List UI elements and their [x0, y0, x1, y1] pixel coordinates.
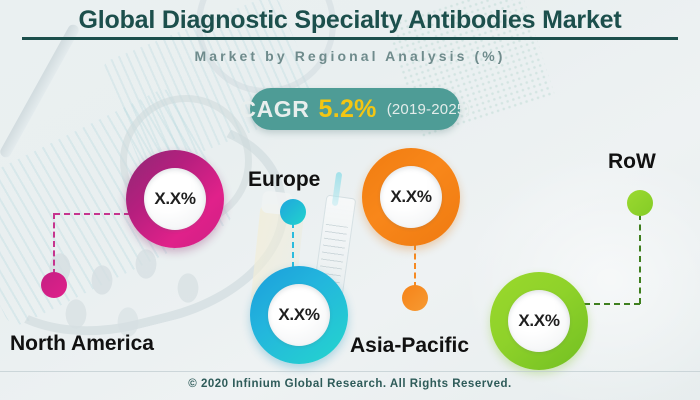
page-title: Global Diagnostic Specialty Antibodies M…: [0, 6, 700, 35]
marker-dot-row: [627, 190, 653, 216]
region-label-row: RoW: [608, 150, 656, 174]
footer-copyright: © 2020 Infinium Global Research. All Rig…: [0, 378, 700, 390]
footer-divider: [0, 371, 700, 372]
page-subtitle: Market by Regional Analysis (%): [0, 48, 700, 64]
connector-line-north-america-horizontal: [54, 213, 130, 215]
cagr-badge: CAGR 5.2% (2019-2025): [250, 88, 460, 130]
connector-line-north-america-vertical: [53, 213, 55, 275]
donut-north-america-value: X.X%: [154, 189, 195, 209]
donut-north-america: X.X%: [126, 150, 224, 248]
connector-line-row-vertical: [639, 214, 641, 304]
donut-row-core: X.X%: [508, 290, 571, 353]
cagr-label: CAGR: [239, 96, 309, 123]
cagr-period: (2019-2025): [387, 101, 471, 118]
marker-dot-asia-pacific: [402, 285, 428, 311]
connector-line-asia-pacific-vertical: [414, 244, 416, 288]
donut-europe-core: X.X%: [268, 284, 331, 347]
stethoscope-stem-graphic: [0, 23, 81, 160]
connector-line-europe-vertical: [292, 222, 294, 268]
infographic-canvas: Global Diagnostic Specialty Antibodies M…: [0, 0, 700, 400]
cagr-value: 5.2%: [319, 95, 377, 124]
donut-row: X.X%: [490, 272, 588, 370]
region-label-europe: Europe: [248, 168, 320, 192]
marker-dot-north-america: [41, 272, 67, 298]
donut-europe: X.X%: [250, 266, 348, 364]
background-glow: [460, 150, 700, 400]
donut-north-america-core: X.X%: [144, 168, 207, 231]
marker-dot-europe: [280, 199, 306, 225]
donut-asia-pacific: X.X%: [362, 148, 460, 246]
title-underline: [22, 37, 678, 40]
region-label-north-america: North America: [10, 332, 154, 356]
donut-row-value: X.X%: [518, 311, 559, 331]
donut-asia-pacific-value: X.X%: [390, 187, 431, 207]
donut-europe-value: X.X%: [278, 305, 319, 325]
region-label-asia-pacific: Asia-Pacific: [350, 334, 469, 358]
syringe-needle-graphic: [332, 172, 343, 207]
donut-asia-pacific-core: X.X%: [380, 166, 443, 229]
